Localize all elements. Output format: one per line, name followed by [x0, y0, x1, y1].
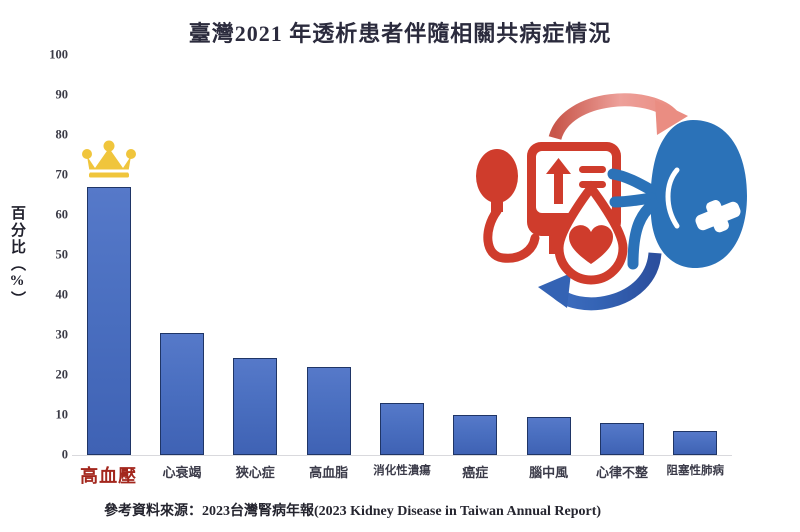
blood-pressure-monitor-icon [476, 142, 623, 280]
x-axis-baseline [72, 455, 732, 456]
bar-心衰竭[interactable] [160, 333, 204, 455]
y-tick-40: 40 [56, 288, 69, 303]
x-axis-tick-labels: 高血壓心衰竭狹心症高血脂消化性潰瘍癌症腦中風心律不整阻塞性肺病 [72, 462, 732, 488]
y-tick-20: 20 [56, 368, 69, 383]
crown-icon [81, 140, 137, 182]
y-tick-60: 60 [56, 208, 69, 223]
x-tick-label-高血壓: 高血壓 [72, 462, 145, 488]
bar-阻塞性肺病[interactable] [673, 431, 717, 455]
y-tick-30: 30 [56, 328, 69, 343]
y-tick-70: 70 [56, 168, 69, 183]
bar-slot [145, 55, 218, 455]
bar-高血脂[interactable] [307, 367, 351, 455]
x-tick-label-心衰竭: 心衰竭 [145, 462, 218, 488]
red-curved-arrow-right-icon [555, 100, 688, 138]
y-tick-0: 0 [62, 448, 68, 463]
x-tick-label-狹心症: 狹心症 [219, 462, 292, 488]
bar-slot [72, 55, 145, 455]
x-tick-label-高血脂: 高血脂 [292, 462, 365, 488]
x-tick-label-心律不整: 心律不整 [585, 462, 658, 488]
bar-slot [219, 55, 292, 455]
y-tick-80: 80 [56, 128, 69, 143]
page-title: 臺灣2021 年透析患者伴隨相關共病症情況 [0, 16, 800, 48]
bar-狹心症[interactable] [233, 358, 277, 455]
bar-slot [365, 55, 438, 455]
y-tick-50: 50 [56, 248, 69, 263]
source-note: 參考資料來源：2023台灣腎病年報(2023 Kidney Disease in… [104, 500, 601, 520]
y-axis-title: 百分比（%） [2, 205, 24, 308]
x-tick-label-腦中風: 腦中風 [512, 462, 585, 488]
bar-高血壓[interactable] [87, 187, 131, 455]
hypertension-kidney-illustration [455, 78, 755, 348]
y-tick-100: 100 [49, 48, 68, 63]
y-tick-90: 90 [56, 88, 69, 103]
bar-癌症[interactable] [453, 415, 497, 455]
kidney-icon [613, 120, 747, 268]
bar-消化性潰瘍[interactable] [380, 403, 424, 455]
x-tick-label-阻塞性肺病: 阻塞性肺病 [659, 462, 732, 488]
x-tick-label-癌症: 癌症 [439, 462, 512, 488]
y-axis-tick-labels: 100 90 80 70 60 50 40 30 20 10 0 [34, 55, 68, 455]
bar-slot [292, 55, 365, 455]
bar-腦中風[interactable] [527, 417, 571, 455]
x-tick-label-消化性潰瘍: 消化性潰瘍 [365, 462, 438, 488]
bar-心律不整[interactable] [600, 423, 644, 455]
y-tick-10: 10 [56, 408, 69, 423]
